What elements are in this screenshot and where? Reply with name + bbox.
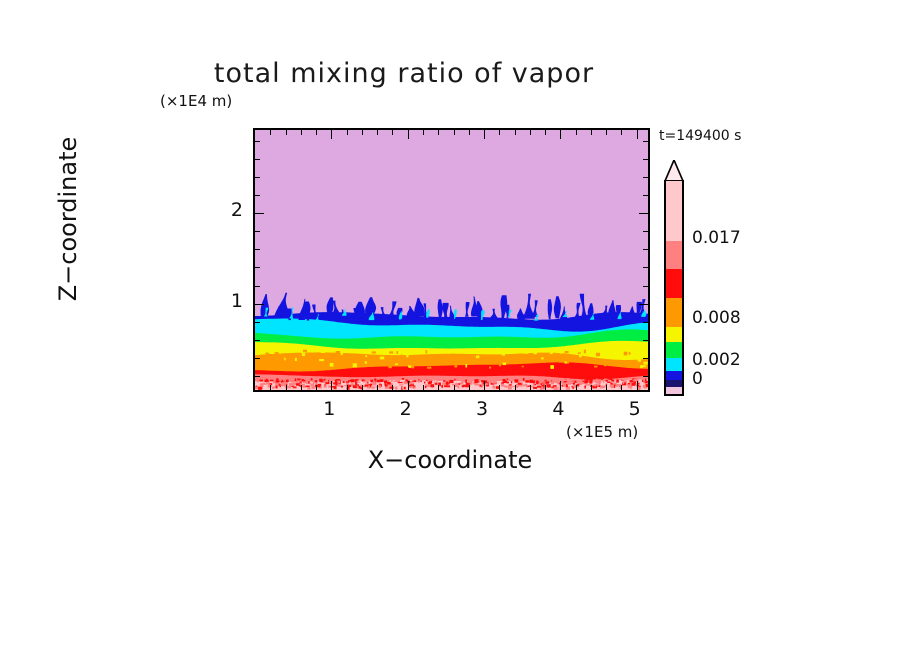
surface-speckle [402,386,403,389]
surface-speckle [257,380,259,383]
y-tick [255,177,260,178]
convective-plume [599,306,610,319]
x-tick [438,385,439,390]
x-tick-top [377,130,378,135]
surface-speckle [336,382,337,384]
x-axis-unit-label: (×1E5 m) [566,423,638,441]
colorbar-band-light-pink [666,181,682,240]
surface-speckle [343,378,346,381]
mid-level-speckle [265,353,269,356]
y-tick [255,322,260,323]
surface-speckle [462,385,464,387]
x-tick [316,385,317,390]
y-tick-right [643,358,648,359]
surface-speckle [384,380,387,383]
colorbar-band-green [666,342,682,359]
surface-speckle [410,384,414,385]
surface-speckle [311,378,313,380]
mid-level-speckle [499,363,501,366]
surface-speckle [371,386,375,388]
convective-plume [414,298,425,316]
x-tick-top [301,130,302,135]
mid-level-speckle [380,349,382,351]
surface-speckle [425,384,427,385]
mid-level-speckle [324,363,326,365]
mid-level-speckle [309,349,313,351]
surface-speckle [274,380,275,383]
surface-speckle [587,379,590,380]
mid-level-speckle [604,364,606,366]
x-tick-top [545,130,546,135]
surface-speckle [552,379,554,382]
x-tick [331,381,332,390]
surface-speckle [403,381,407,384]
surface-speckle [308,381,309,383]
x-tick-top [454,130,455,135]
surface-speckle [459,383,461,385]
surface-speckle [399,384,403,385]
surface-speckle [414,380,417,382]
x-tick [499,385,500,390]
surface-speckle [551,382,554,384]
figure-canvas: total mixing ratio of vapor (×1E4 m) t=1… [0,0,904,654]
convective-plume [574,303,581,317]
mid-level-speckle [533,351,536,355]
mid-level-speckle [559,361,564,363]
surface-speckle [488,379,492,382]
surface-speckle [442,385,444,388]
surface-speckle [273,387,276,388]
mid-level-speckle [638,353,643,355]
mid-level-speckle [596,349,599,353]
mid-level-speckle [269,352,274,354]
surface-speckle [414,387,415,389]
surface-speckle [446,382,448,385]
surface-speckle [628,384,630,386]
surface-speckle [409,386,411,387]
surface-speckle [304,379,307,380]
surface-speckle [395,386,398,389]
y-tick [255,376,260,377]
surface-speckle [632,383,636,386]
mid-level-speckle [567,362,569,364]
colorbar-band-cyan [666,358,682,371]
surface-speckle [346,381,350,382]
y-tick-right [643,340,648,341]
surface-speckle [320,379,322,381]
surface-speckle [562,385,563,387]
x-tick [454,385,455,390]
x-tick-top [606,130,607,135]
mid-level-speckle [624,352,628,356]
x-tick [576,385,577,390]
surface-speckle [428,382,432,384]
x-tick-top [621,130,622,135]
surface-speckle [525,380,529,382]
colorbar-tick-label: 0.017 [692,228,741,248]
surface-speckle [282,382,284,386]
surface-speckle [324,385,327,387]
surface-speckle [426,380,428,381]
mid-level-speckle [399,361,404,363]
surface-speckle [486,383,489,384]
mid-level-speckle [550,365,554,369]
colorbar-band-blue [666,370,682,380]
colorbar-band-orange [666,297,682,326]
surface-speckle [296,381,298,383]
colorbar-band-dark-navy [666,380,682,387]
surface-speckle [643,385,646,388]
x-tick [484,381,485,390]
surface-speckle [387,382,391,385]
surface-speckle [428,379,429,382]
surface-speckle [255,387,258,390]
x-tick [591,385,592,390]
y-tick-right [643,267,648,268]
surface-speckle [431,384,435,387]
x-tick-top [270,130,271,135]
surface-speckle [263,383,265,385]
surface-speckle [486,385,489,386]
convective-plume [364,297,376,315]
y-tick-right [639,304,648,305]
mid-level-speckle [341,351,343,355]
convective-plume [260,294,269,316]
surface-speckle [289,383,292,386]
surface-speckle [582,383,585,384]
x-tick-top [576,130,577,135]
surface-speckle [265,380,269,382]
surface-speckle [295,378,297,381]
mid-level-speckle [426,350,428,353]
mid-level-speckle [295,358,297,361]
surface-speckle [384,383,386,386]
y-tick [255,267,260,268]
mid-level-speckle [596,353,600,356]
x-tick-top [560,130,561,139]
y-tick-right [643,159,648,160]
mid-level-speckle [557,359,561,361]
surface-speckle [525,384,528,386]
surface-speckle [338,381,340,384]
surface-speckle [576,384,579,387]
surface-speckle [594,384,596,386]
surface-speckle [425,386,426,388]
surface-speckle [398,378,402,379]
surface-speckle [454,379,455,381]
convective-plume [274,293,288,317]
surface-speckle [630,386,631,390]
mid-level-speckle [396,351,398,354]
surface-speckle [356,381,358,383]
y-tick [255,141,260,142]
mid-level-speckle [503,362,506,365]
surface-speckle [533,383,534,387]
surface-speckle [576,380,580,384]
x-tick [270,385,271,390]
surface-speckle [457,385,459,388]
mid-level-speckle [388,356,390,358]
surface-speckle [547,384,551,387]
y-tick [255,231,260,232]
x-tick-label: 4 [538,398,578,420]
convective-plume [488,309,499,320]
surface-speckle [374,378,376,380]
surface-speckle [564,381,567,382]
surface-speckle [493,386,495,389]
surface-speckle [638,386,640,389]
surface-speckle [477,384,480,386]
x-tick [301,385,302,390]
x-tick-top [331,130,332,139]
mid-level-speckle [330,363,334,367]
convective-plume [380,307,390,320]
surface-speckle [462,380,465,383]
surface-speckle [584,385,586,388]
surface-speckle [611,385,614,388]
surface-speckle [600,386,603,389]
mid-level-speckle [449,363,453,365]
convective-plume [463,302,469,317]
surface-speckle [456,383,459,386]
x-tick-top [362,130,363,135]
mid-level-speckle [476,356,479,359]
colorbar-tick-label: 0.002 [692,350,741,370]
mid-level-speckle [594,366,597,368]
y-tick [255,358,260,359]
surface-speckle [328,385,330,387]
surface-speckle [376,380,379,383]
surface-speckle [385,387,389,389]
y-tick-label: 1 [203,290,243,312]
x-tick-top [484,130,485,139]
surface-speckle [297,378,301,380]
surface-speckle [563,379,567,381]
surface-speckle [555,379,557,381]
mid-level-speckle [353,363,357,367]
surface-speckle [619,384,620,386]
mid-level-speckle [560,351,562,354]
surface-speckle [504,385,506,387]
surface-speckle [584,380,588,382]
mid-level-speckle [427,367,431,369]
y-tick [255,213,264,214]
mid-level-speckle [616,349,618,353]
x-tick [423,385,424,390]
convective-plume [547,299,552,319]
mid-level-speckle [297,361,301,363]
surface-speckle [350,383,352,385]
x-tick [560,381,561,390]
surface-speckle [260,380,263,382]
mid-level-speckle [336,351,340,354]
x-tick [515,385,516,390]
mid-level-speckle [643,362,647,365]
surface-speckle [325,382,329,384]
surface-speckle [622,378,625,380]
surface-speckle [404,387,406,390]
y-tick [255,195,260,196]
surface-speckle [318,384,320,387]
convective-plume [553,296,561,318]
surface-speckle [590,381,591,383]
surface-speckle [364,385,368,387]
mid-level-speckle [365,355,367,357]
x-tick-top [316,130,317,135]
surface-speckle [355,382,357,385]
surface-speckle [409,378,410,379]
surface-speckle [567,382,571,384]
surface-speckle [536,381,538,385]
surface-speckle [625,378,628,379]
mid-level-speckle [499,359,502,362]
surface-speckle [534,384,536,385]
surface-speckle [435,383,437,385]
surface-speckle [604,378,605,380]
x-tick-label: 1 [309,398,349,420]
surface-speckle [380,379,384,382]
surface-speckle [291,379,294,382]
surface-speckle [567,378,570,381]
mid-level-speckle [454,365,457,367]
surface-speckle [305,386,309,387]
mid-level-speckle [510,350,515,351]
x-tick-label: 3 [462,398,502,420]
page-title: total mixing ratio of vapor [0,58,904,89]
y-tick-right [643,322,648,323]
surface-speckle [300,382,302,384]
surface-speckle [341,386,343,388]
mid-level-speckle [502,352,505,355]
mid-level-speckle [406,354,408,358]
x-tick-top [591,130,592,135]
colorbar-band-pale-pink [666,386,682,394]
x-tick-top [530,130,531,135]
x-tick [286,385,287,390]
surface-speckle [275,381,279,383]
mid-level-speckle [401,355,403,357]
surface-speckle [511,381,512,383]
x-tick-top [392,130,393,135]
mid-level-speckle [365,361,367,363]
x-tick-top [515,130,516,135]
x-tick [545,385,546,390]
mid-level-speckle [458,350,460,354]
mid-level-speckle [647,350,648,351]
surface-speckle [362,379,365,380]
mid-level-speckle [411,365,414,368]
mid-level-speckle [527,358,529,361]
x-tick-label: 5 [615,398,655,420]
mid-level-speckle [321,351,325,353]
surface-speckle [477,381,478,383]
surface-speckle [402,378,405,380]
convective-plume [523,294,535,319]
mid-level-speckle [416,359,418,363]
surface-speckle [365,383,368,385]
mid-level-speckle [302,353,305,356]
colorbar-tick-label: 0 [692,369,703,389]
mid-level-speckle [457,360,461,363]
page-title-text: total mixing ratio of vapor [214,58,594,89]
surface-speckle [338,384,341,387]
surface-speckle [282,378,285,379]
x-tick-top [469,130,470,135]
surface-speckle [449,380,453,383]
x-tick [408,381,409,390]
surface-speckle [630,380,632,382]
surface-speckle [409,383,411,384]
surface-speckle [266,382,269,384]
surface-speckle [270,380,273,381]
mid-level-speckle [565,351,569,353]
mid-level-speckle [319,359,324,361]
surface-speckle [603,380,604,383]
y-tick [255,249,260,250]
surface-speckle [444,385,446,387]
x-tick [621,385,622,390]
mid-level-speckle [285,354,289,358]
surface-speckle [287,386,291,388]
colorbar-over-arrow [664,160,684,182]
y-tick-right [643,195,648,196]
surface-speckle [646,384,648,387]
surface-speckle [389,379,393,380]
mid-level-speckle [275,352,279,353]
x-axis-title-text: X−coordinate [368,446,533,474]
y-tick-label: 2 [203,199,243,221]
surface-speckle [606,380,608,382]
timestamp-label: t=149400 s [659,128,741,144]
y-tick [255,159,260,160]
y-tick-right [643,376,648,377]
mid-level-speckle [438,350,440,351]
x-tick-top [423,130,424,135]
mid-level-speckle [638,358,641,362]
x-tick [362,385,363,390]
surface-speckle [431,379,433,381]
surface-speckle [307,387,310,390]
x-tick [469,385,470,390]
y-tick [255,304,264,305]
mid-level-speckle [579,354,581,358]
mid-level-speckle [372,351,376,353]
surface-speckle [398,382,402,383]
surface-speckle [481,387,482,388]
surface-speckle [521,382,522,384]
surface-speckle [359,382,360,383]
surface-speckle [596,384,598,386]
surface-speckle [518,383,522,385]
colorbar-band-red [666,269,682,298]
surface-speckle [275,383,279,386]
surface-speckle [465,379,467,383]
x-tick-top [286,130,287,135]
surface-speckle [335,383,337,386]
surface-speckle [307,378,308,379]
surface-speckle [437,379,439,381]
surface-speckle [601,378,603,379]
surface-speckle [537,386,541,388]
mid-level-speckle [524,352,528,354]
mid-level-speckle [331,356,335,358]
x-tick [637,381,638,390]
y-tick-right [643,286,648,287]
mid-level-speckle [380,357,384,360]
mid-level-speckle [506,361,508,363]
colorbar [664,180,684,396]
surface-speckle [446,385,450,387]
